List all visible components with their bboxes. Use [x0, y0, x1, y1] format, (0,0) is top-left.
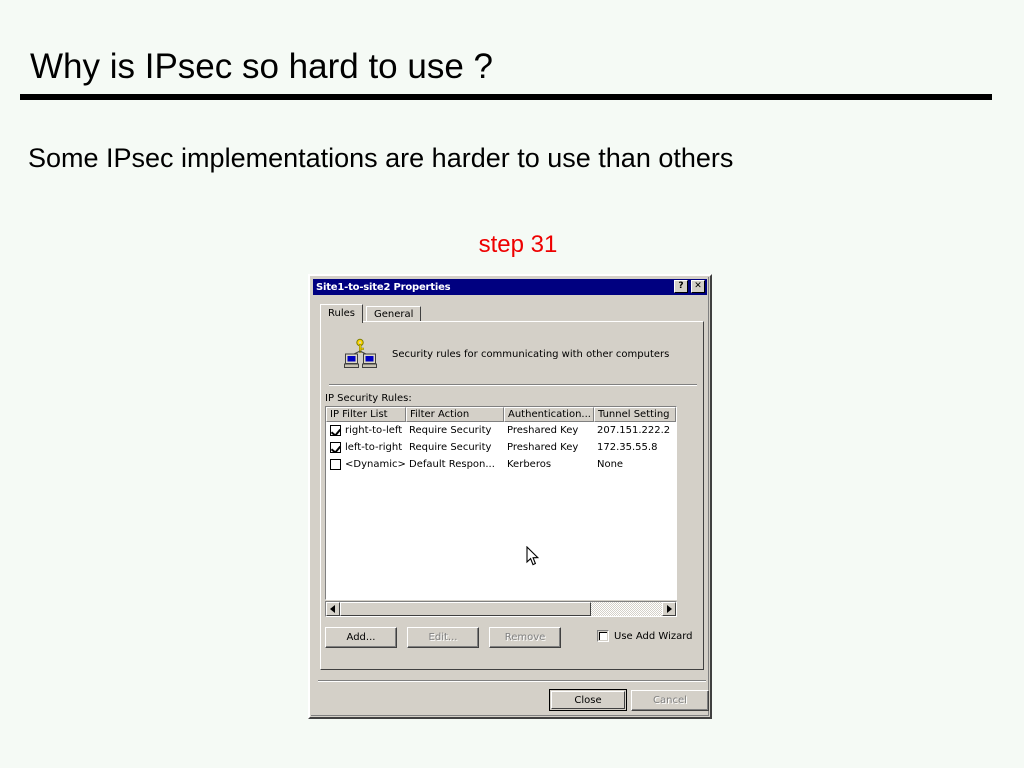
add-button-label: Add... [347, 632, 376, 643]
cell-ip-filter-list-text: right-to-left [345, 425, 402, 436]
slide-subtitle: Some IPsec implementations are harder to… [28, 143, 733, 174]
scrollbar-track[interactable] [340, 602, 662, 616]
table-header-row: IP Filter List Filter Action Authenticat… [326, 407, 676, 422]
tab-page-rules: Security rules for communicating with ot… [320, 321, 704, 670]
checkbox-well [599, 632, 607, 640]
row-checkbox[interactable] [330, 442, 341, 453]
cell-ip-filter-list-text: left-to-right [345, 442, 402, 453]
column-header-ip-filter-list[interactable]: IP Filter List [326, 407, 406, 422]
remove-button: Remove [489, 627, 561, 648]
description-row: Security rules for communicating with ot… [344, 338, 669, 370]
close-button-face: Close [551, 691, 625, 709]
horizontal-scrollbar[interactable] [325, 601, 677, 617]
close-icon[interactable]: ✕ [691, 280, 705, 293]
tab-general[interactable]: General [366, 306, 421, 322]
properties-dialog: Site1-to-site2 Properties ? ✕ Rules Gene… [308, 274, 712, 719]
cell-ip-filter-list: left-to-right [326, 442, 406, 453]
dialog-titlebar[interactable]: Site1-to-site2 Properties ? ✕ [313, 279, 707, 295]
footer-divider [318, 680, 706, 682]
cell-tunnel-setting: None [594, 459, 676, 470]
cell-authentication: Kerberos [504, 459, 594, 470]
row-checkbox[interactable] [330, 459, 341, 470]
step-caption-text: step 31 [479, 231, 558, 258]
use-add-wizard-checkbox[interactable]: Use Add Wizard [597, 630, 693, 642]
add-button[interactable]: Add... [325, 627, 397, 648]
cancel-button: Cancel [631, 690, 709, 711]
table-row[interactable]: <Dynamic> Default Respon... Kerberos Non… [326, 456, 676, 473]
close-button-label: Close [574, 695, 601, 706]
table-row[interactable]: left-to-right Require Security Preshared… [326, 439, 676, 456]
cell-authentication: Preshared Key [504, 442, 594, 453]
cell-ip-filter-list: right-to-left [326, 425, 406, 436]
description-text: Security rules for communicating with ot… [392, 349, 669, 360]
rules-list-label: IP Security Rules: [325, 393, 412, 404]
scrollbar-thumb[interactable] [340, 602, 591, 616]
page-title: Why is IPsec so hard to use ? [30, 47, 493, 87]
cell-ip-filter-list: <Dynamic> [326, 459, 406, 470]
cell-tunnel-setting: 172.35.55.8 [594, 442, 676, 453]
scroll-left-icon[interactable] [326, 602, 340, 616]
tab-rules[interactable]: Rules [320, 304, 363, 323]
cell-filter-action: Require Security [406, 425, 504, 436]
edit-button: Edit... [407, 627, 479, 648]
edit-button-label: Edit... [429, 632, 458, 643]
cell-ip-filter-list-text: <Dynamic> [345, 459, 406, 470]
column-header-authentication[interactable]: Authentication... [504, 407, 594, 422]
help-icon[interactable]: ? [674, 280, 688, 293]
close-button[interactable]: Close [549, 689, 627, 711]
step-caption: step 31 [0, 231, 1024, 259]
column-header-filter-action[interactable]: Filter Action [406, 407, 504, 422]
row-checkbox[interactable] [330, 425, 341, 436]
scroll-right-icon[interactable] [662, 602, 676, 616]
column-header-tunnel-setting[interactable]: Tunnel Setting [594, 407, 676, 422]
dialog-title-text: Site1-to-site2 Properties [316, 282, 450, 293]
cell-filter-action: Require Security [406, 442, 504, 453]
section-divider [329, 384, 697, 386]
cancel-button-label: Cancel [653, 695, 687, 706]
table-row[interactable]: right-to-left Require Security Preshared… [326, 422, 676, 439]
cell-authentication: Preshared Key [504, 425, 594, 436]
cell-tunnel-setting: 207.151.222.2 [594, 425, 676, 436]
remove-button-label: Remove [505, 632, 546, 643]
use-add-wizard-box[interactable] [597, 630, 609, 642]
title-divider [20, 94, 992, 100]
use-add-wizard-label: Use Add Wizard [614, 631, 693, 642]
cell-filter-action: Default Respon... [406, 459, 504, 470]
two-computers-with-key-icon [344, 338, 378, 370]
tab-strip: Rules General [320, 304, 704, 322]
ip-security-rules-list[interactable]: IP Filter List Filter Action Authenticat… [325, 406, 677, 600]
